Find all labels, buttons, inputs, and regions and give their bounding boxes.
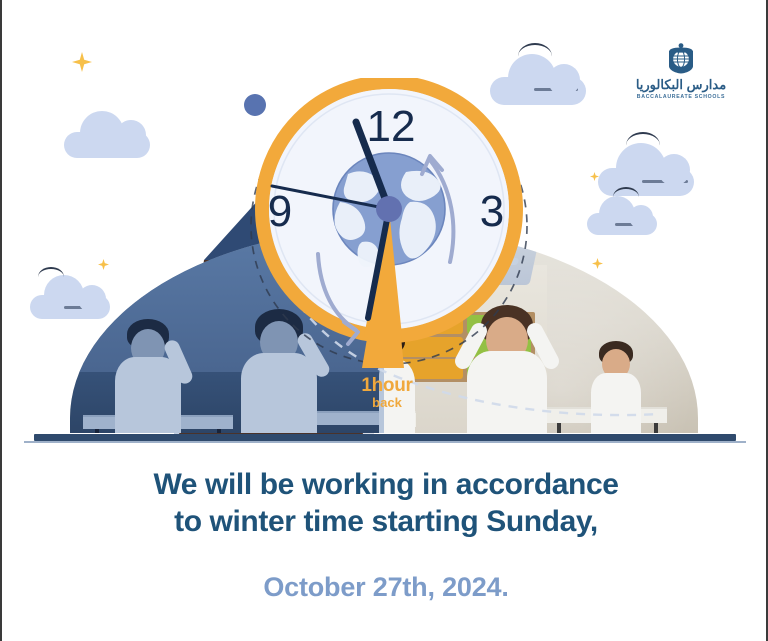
orbit-dot-icon	[244, 94, 266, 116]
clock-numeral-9: 9	[268, 187, 292, 236]
clock-numeral-12: 12	[367, 102, 416, 151]
effective-date: October 27th, 2024.	[2, 572, 768, 603]
cloud-underline	[534, 88, 578, 91]
clock-numeral-3: 3	[480, 187, 504, 236]
headline-line-2: to winter time starting Sunday,	[2, 503, 768, 540]
headline-line-1: We will be working in accordance	[2, 466, 768, 503]
cloud-swoosh-icon	[518, 43, 552, 59]
ground-baseline	[34, 434, 736, 441]
one-hour-back-line1: 1hour	[332, 376, 442, 395]
analog-clock: 12 3 6 9	[244, 78, 534, 368]
page-title: We will be working in accordance to wint…	[2, 466, 768, 540]
school-logo[interactable]: مدارس البكالوريا BACCALAUREATE SCHOOLS	[626, 42, 736, 100]
logo-arabic-name: مدارس البكالوريا	[626, 77, 736, 93]
one-hour-back-label: 1hour back	[332, 376, 442, 409]
sparkle-star-icon	[72, 52, 92, 72]
ground-baseline-shadow	[24, 441, 746, 443]
one-hour-back-line2: back	[332, 396, 442, 409]
crest-globe-icon	[664, 42, 698, 76]
logo-english-name: BACCALAUREATE SCHOOLS	[626, 94, 736, 100]
clock-center-cap	[376, 196, 402, 222]
poster-canvas: 12 3 6 9 1hour back	[0, 0, 768, 641]
